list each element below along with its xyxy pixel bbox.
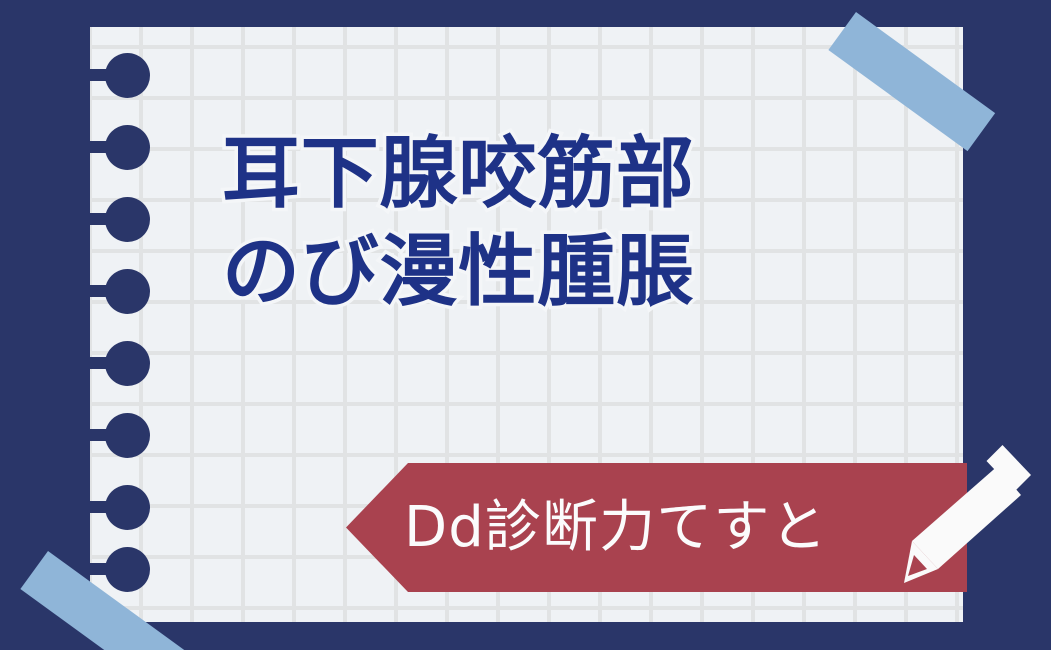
punch-hole-8 [105, 547, 150, 592]
page-title: 耳下腺咬筋部 のび漫性腫脹 [222, 126, 922, 321]
punch-hole-6 [105, 413, 150, 458]
punch-hole-1 [105, 53, 150, 98]
status-badge: Dd診断力てすと [346, 463, 967, 592]
punch-hole-2 [105, 125, 150, 170]
punch-hole-4 [105, 269, 150, 314]
punch-hole-7 [105, 485, 150, 530]
punch-hole-3 [105, 197, 150, 242]
banner-label: Dd診断力てすと [404, 500, 828, 556]
punch-hole-5 [105, 341, 150, 386]
pencil-icon [898, 443, 1033, 588]
slide-canvas: 耳下腺咬筋部 のび漫性腫脹 Dd診断力てすと [0, 0, 1051, 650]
